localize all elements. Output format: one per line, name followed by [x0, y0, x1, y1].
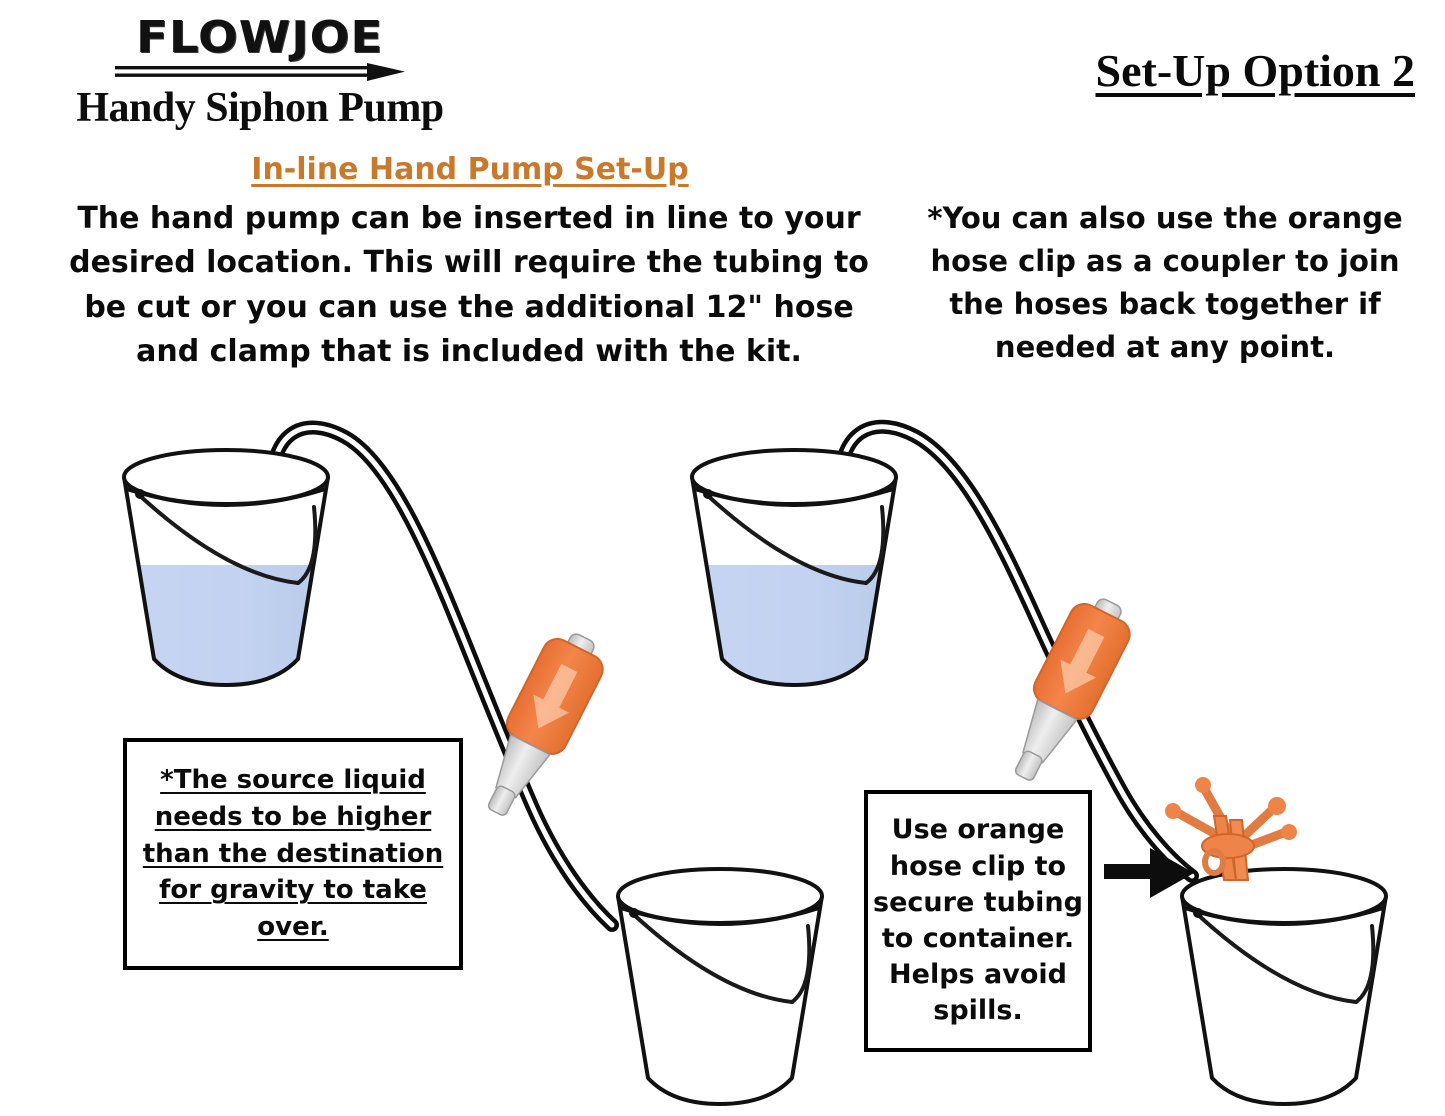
instruction-sheet: FLOWJOE Handy Siphon Pump Set-Up Option …: [0, 0, 1445, 1116]
callout-arrow-layer: [0, 0, 1445, 1116]
callout-arrow-icon: [1104, 848, 1194, 898]
